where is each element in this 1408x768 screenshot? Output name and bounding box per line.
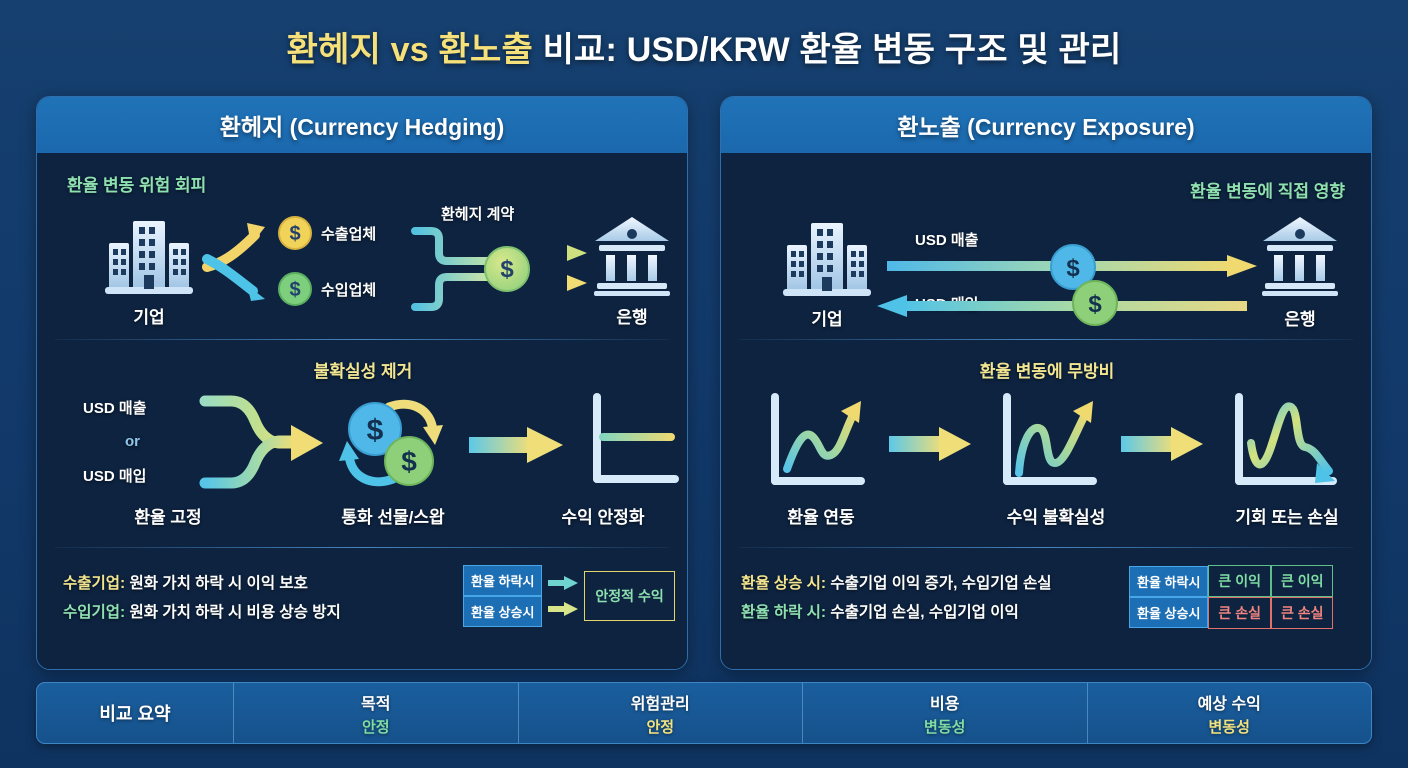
svg-text:$: $ [1066,255,1080,282]
dollar-coin-importer-icon: $ [277,271,313,307]
company-label-left: 기업 [103,303,195,328]
bidirectional-flow-icon: $ $ [877,255,1257,325]
hedge-bullet-2: 수입기업: 원화 가치 하락 시 비용 상승 방지 [63,600,341,622]
svg-text:$: $ [1088,291,1102,318]
hedge-divider-2 [55,547,669,548]
panel-exposure-title: 환노출 (Currency Exposure) [897,108,1194,142]
exposure-bullet-1: 환율 상승 시: 수출기업 이익 증가, 수입기업 손실 [741,571,1052,593]
hedge-bullet-2-key: 수입기업: [63,604,125,621]
hedge-bullet-2-text: 원화 가치 하락 시 비용 상승 방지 [125,604,341,621]
hedge-bullet-1-key: 수출기업: [63,575,125,592]
summary-col-return-value: 변동성 [1209,716,1250,737]
arrow-right-icon-1 [548,576,578,590]
panels-container: 환헤지 (Currency Hedging) 환율 변동 위험 회피 [36,96,1372,670]
summary-col-cost-header: 비용 [930,690,959,714]
summary-col-return: 예상 수익 변동성 [1087,683,1372,743]
exposure-table-col-2: 큰 이익 큰 손실 [1271,565,1334,629]
hedge-bullet-1: 수출기업: 원화 가치 하락 시 이익 보호 [63,571,341,593]
split-arrows-icon [203,215,281,305]
volatility-chart-2-icon [993,389,1105,499]
hedge-outcome-table: 환율 하락시 환율 상승시 안정적 수익 [463,565,675,627]
panel-hedging-header: 환헤지 (Currency Hedging) [37,97,687,153]
summary-col-risk-value: 안정 [646,716,674,737]
svg-text:$: $ [289,279,300,301]
summary-col-purpose: 목적 안정 [233,683,518,743]
exposure-arrow-2-icon [1121,425,1205,463]
exposure-cell-r1c1: 큰 이익 [1208,565,1271,597]
panel-hedging-body: 환율 변동 위험 회피 [37,153,687,669]
hedge-cap-forward-swap: 통화 선물/스왑 [293,503,493,528]
hedge-cap-fix-rate: 환율 고정 [75,503,261,528]
hedge-section2-label: 불확실성 제거 [37,357,688,382]
summary-col-cost-value: 변동성 [924,716,965,737]
currency-swap-icon: $ $ [337,391,445,495]
title-highlight: 환헤지 vs 환노출 [287,31,533,69]
panel-hedging-title: 환헤지 (Currency Hedging) [220,108,505,142]
summary-title: 비교 요약 [37,683,233,743]
hedge-bullets: 수출기업: 원화 가치 하락 시 이익 보호 수입기업: 원화 가치 하락 시 … [63,571,341,622]
flow-arrow-to-stability-icon [469,425,565,465]
exposure-cap-fx-linked: 환율 연동 [741,503,901,528]
hedge-divider-1 [55,339,669,340]
hedge-cap-stable-profit: 수익 안정화 [523,503,683,528]
svg-text:$: $ [367,414,384,447]
exposure-bullets: 환율 상승 시: 수출기업 이익 증가, 수입기업 손실 환율 하락 시: 수출… [741,571,1052,622]
or-label: or [125,433,140,450]
exposure-bullet-1-key: 환율 상승 시: [741,575,826,592]
exposure-outcome-table: 환율 하락시 환율 상승시 큰 이익 큰 손실 큰 이익 큰 손실 [1129,565,1333,629]
svg-text:$: $ [401,446,417,477]
hedge-row-label-2: 환율 상승시 [463,596,542,627]
stable-profit-chart-icon [583,389,688,495]
panel-exposure: 환노출 (Currency Exposure) 환율 변동에 직접 영향 [720,96,1372,670]
usd-sales-label-left: USD 매출 [83,397,146,418]
hedge-result-box: 안정적 수익 [584,571,674,621]
exposure-divider-1 [739,339,1353,340]
exposure-row-label-2: 환율 상승시 [1129,597,1208,628]
panel-exposure-header: 환노출 (Currency Exposure) [721,97,1371,153]
infographic-root: 환헤지 vs 환노출 비교: USD/KRW 환율 변동 구조 및 관리 환헤지… [0,0,1408,768]
exporter-label: 수출업체 [321,223,376,244]
hedge-row-label-1: 환율 하락시 [463,565,542,596]
volatility-chart-3-icon [1225,389,1345,499]
merge-arrow-icon [205,393,329,493]
exposure-bullet-2-text: 수출기업 손실, 수입기업 이익 [826,604,1019,621]
dollar-coin-exporter-icon: $ [277,215,313,251]
exposure-bullet-1-text: 수출기업 이익 증가, 수입기업 손실 [826,575,1051,592]
arrow-right-icon-2 [548,602,578,616]
exposure-arrow-1-icon [889,425,973,463]
exposure-table-labels: 환율 하락시 환율 상승시 [1129,566,1208,628]
page-title: 환헤지 vs 환노출 비교: USD/KRW 환율 변동 구조 및 관리 [287,22,1122,71]
exposure-bullet-2-key: 환율 하락 시: [741,604,826,621]
hedge-table-labels: 환율 하락시 환율 상승시 [463,565,542,627]
hedge-section1-label: 환율 변동 위험 회피 [67,171,206,196]
exposure-section1-label: 환율 변동에 직접 영향 [1190,177,1345,202]
summary-col-risk-header: 위험관리 [631,690,690,714]
hedge-table-arrows [548,576,578,616]
panel-exposure-body: 환율 변동에 직접 영향 [721,153,1371,669]
exposure-cap-uncertain-profit: 수익 불확실성 [961,503,1151,528]
exposure-row-label-1: 환율 하락시 [1129,566,1208,597]
summary-col-risk: 위험관리 안정 [518,683,803,743]
summary-bar: 비교 요약 목적 안정 위험관리 안정 비용 변동성 예상 수익 변동성 [36,682,1372,744]
exposure-cell-r2c1: 큰 손실 [1208,597,1271,629]
usd-buy-label-left: USD 매입 [83,465,146,486]
volatility-chart-1-icon [761,389,873,499]
importer-label: 수입업체 [321,279,376,300]
bank-building-icon-right [1261,215,1339,297]
company-building-icon-left [103,213,195,299]
exposure-cap-gain-or-loss: 기회 또는 손실 [1197,503,1372,528]
svg-text:$: $ [500,256,514,283]
exposure-divider-2 [739,547,1353,548]
exposure-bullet-2: 환율 하락 시: 수출기업 손실, 수입기업 이익 [741,600,1052,622]
title-bar: 환헤지 vs 환노출 비교: USD/KRW 환율 변동 구조 및 관리 [0,0,1408,92]
exposure-table-col-1: 큰 이익 큰 손실 [1208,565,1271,629]
title-rest: 비교: USD/KRW 환율 변동 구조 및 관리 [533,31,1122,69]
hedge-bullet-1-text: 원화 가치 하락 시 이익 보호 [125,575,308,592]
bank-building-icon-left [593,215,671,297]
company-label-right: 기업 [781,305,873,330]
bank-label-left: 은행 [585,303,679,328]
exposure-section2-label: 환율 변동에 무방비 [721,357,1372,382]
usd-sales-flow-label: USD 매출 [915,229,978,250]
summary-col-cost: 비용 변동성 [802,683,1087,743]
svg-text:$: $ [289,223,300,245]
exposure-cell-r2c2: 큰 손실 [1271,597,1334,629]
summary-col-purpose-header: 목적 [361,690,390,714]
panel-hedging: 환헤지 (Currency Hedging) 환율 변동 위험 회피 [36,96,688,670]
summary-col-purpose-value: 안정 [362,716,390,737]
bank-label-right: 은행 [1253,305,1347,330]
exposure-cell-r1c2: 큰 이익 [1271,565,1334,597]
summary-col-return-header: 예상 수익 [1198,690,1261,714]
company-building-icon-right [781,215,873,301]
